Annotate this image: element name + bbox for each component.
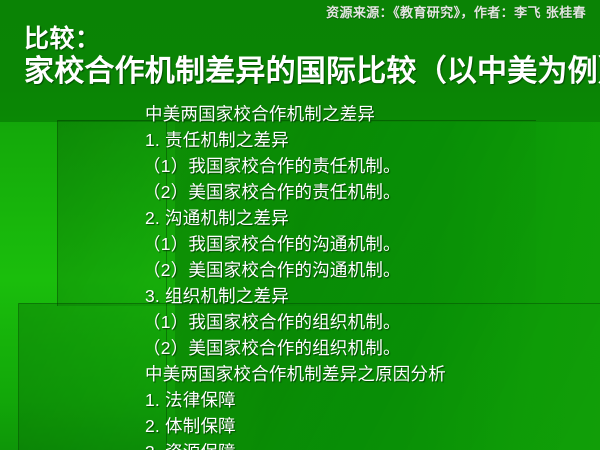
body-line-sub: （1）我国家校合作的组织机制。 [143,309,585,335]
title-line-secondary: 家校合作机制差异的国际比较（以中美为例） [24,54,584,90]
body-line-sub: （2）美国家校合作的责任机制。 [143,179,585,205]
title-line-primary: 比较： [24,24,584,54]
source-attribution: 资源来源：《教育研究》，作者：李飞 张桂春 [326,2,586,21]
body-line-numbered: 2. 沟通机制之差异 [145,205,585,231]
body-line-sub: （1）我国家校合作的沟通机制。 [143,231,585,257]
body-line-heading: 中美两国家校合作机制之差异 [145,101,585,127]
body-line-numbered: 1. 责任机制之差异 [145,127,585,153]
presentation-slide: 资源来源：《教育研究》，作者：李飞 张桂春 比较： 家校合作机制差异的国际比较（… [0,0,600,450]
body-line-sub: （1）我国家校合作的责任机制。 [143,153,585,179]
body-line-numbered: 3. 组织机制之差异 [145,283,585,309]
slide-title: 比较： 家校合作机制差异的国际比较（以中美为例） [24,24,584,90]
slide-body-list: 中美两国家校合作机制之差异1. 责任机制之差异（1）我国家校合作的责任机制。（2… [145,101,585,450]
body-line-numbered: 1. 法律保障 [145,387,585,413]
body-line-numbered: 2. 体制保障 [145,413,585,439]
body-line-heading: 中美两国家校合作机制差异之原因分析 [145,361,585,387]
body-line-numbered: 3. 资源保障 [145,439,585,450]
body-line-sub: （2）美国家校合作的组织机制。 [143,335,585,361]
body-line-sub: （2）美国家校合作的沟通机制。 [143,257,585,283]
